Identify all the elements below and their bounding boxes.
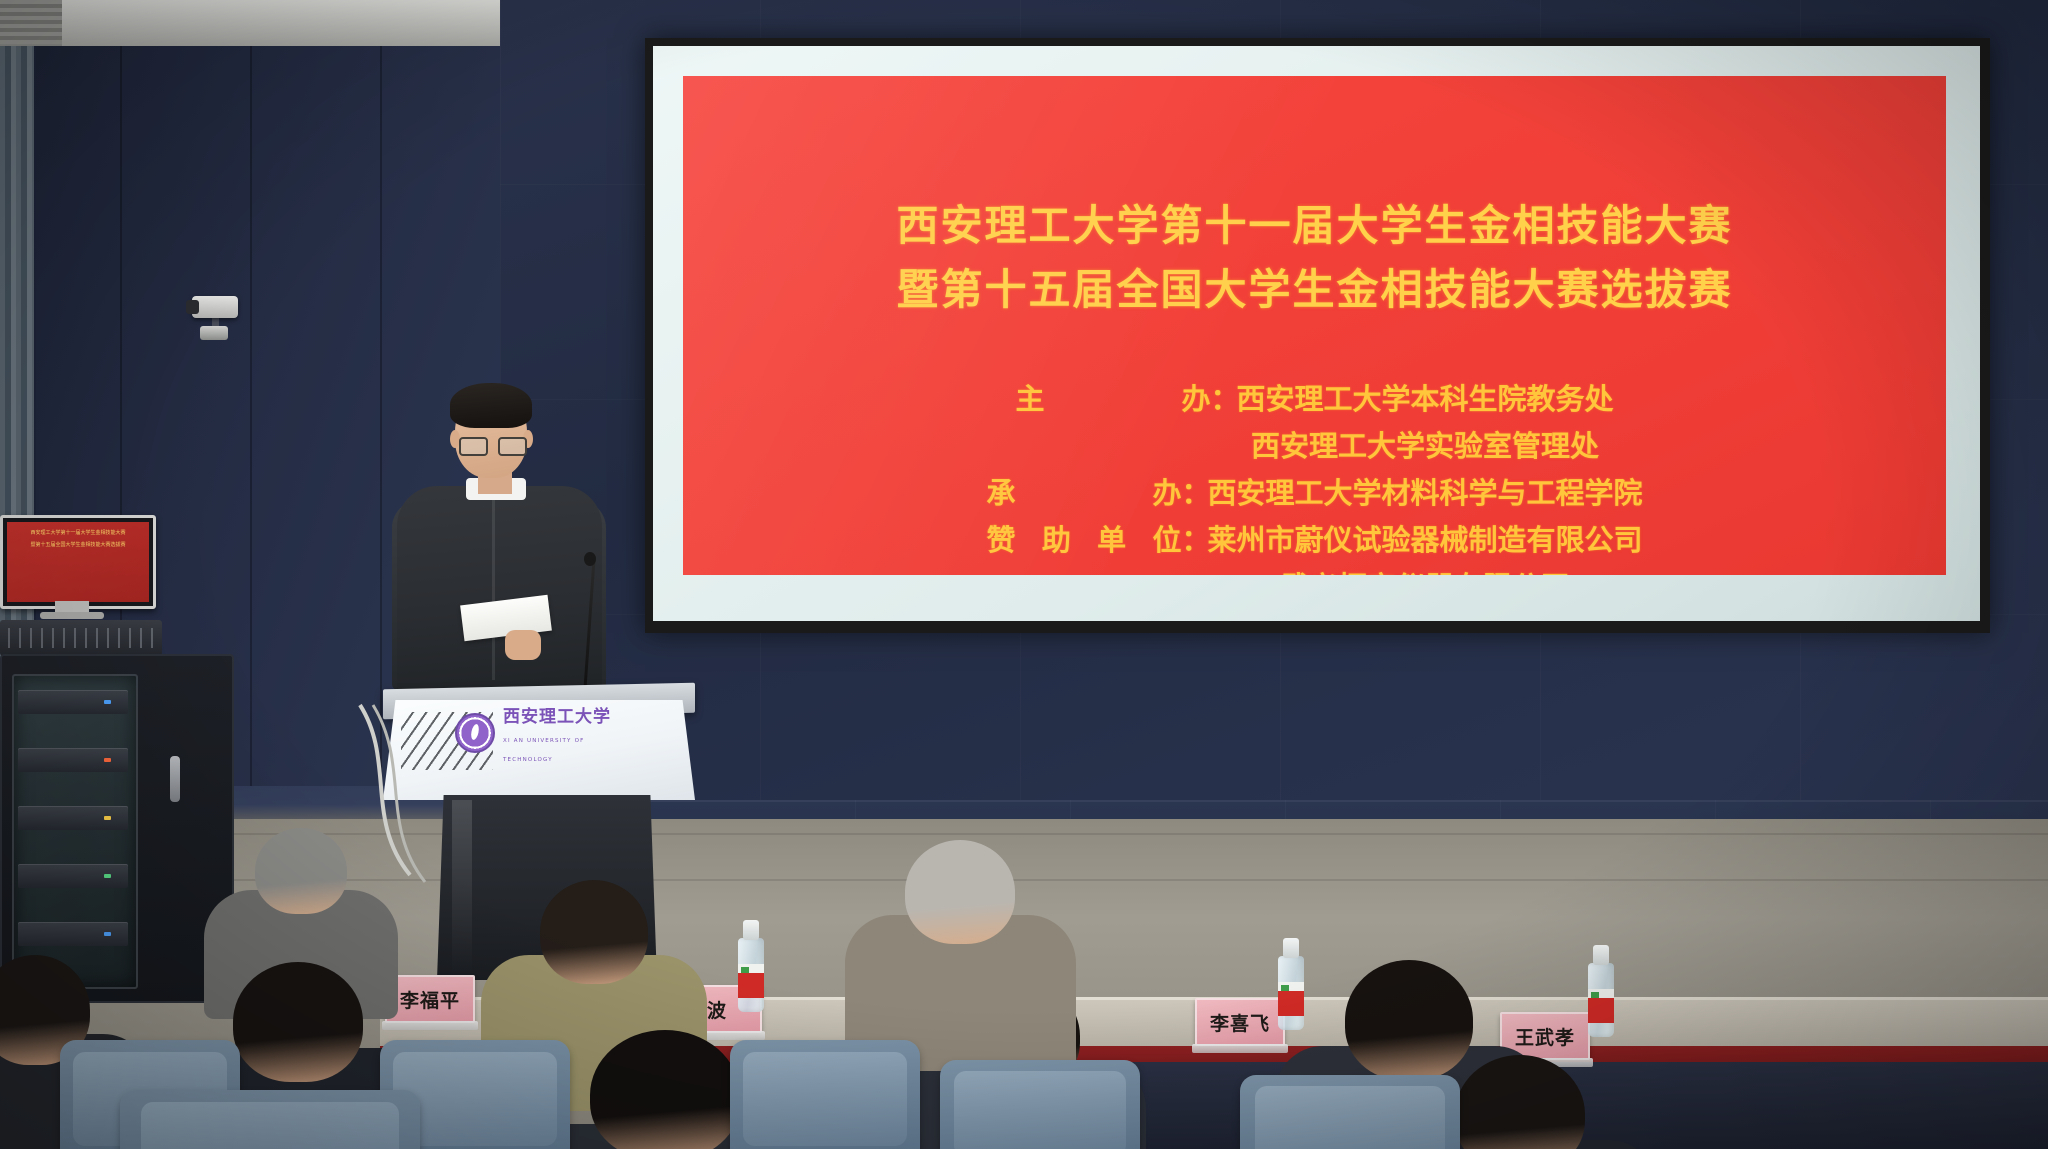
water-bottle bbox=[1278, 938, 1304, 1030]
microphone-icon bbox=[584, 552, 596, 566]
attendee-grey-suit-head bbox=[905, 840, 1015, 944]
speaker-torso bbox=[397, 486, 602, 706]
av-equipment-rack bbox=[0, 654, 234, 1003]
rack-unit[interactable] bbox=[18, 690, 128, 714]
slide-row-label: 赞助单位 bbox=[986, 517, 1181, 564]
slide-row-sponsor-2: 赞助单位 ： 武义恒宇仪器有限公司 bbox=[683, 564, 1946, 575]
attendee-center-left-head bbox=[540, 880, 648, 984]
slide-row-colon: ： bbox=[1210, 376, 1236, 423]
name-card: 李喜飞 bbox=[1195, 998, 1285, 1046]
slide-row-label: 主办 bbox=[1015, 376, 1210, 423]
bottle-cap bbox=[743, 920, 759, 940]
control-monitor: 西安理工大学第十一届大学生金相技能大赛 暨第十五届全国大学生金相技能大赛选拔赛 bbox=[0, 515, 156, 609]
slide-row-organizer-2: 主办 ： 西安理工大学实验室管理处 bbox=[683, 423, 1946, 470]
speaker-hair bbox=[450, 383, 532, 428]
slide-row-label: 承办 bbox=[986, 470, 1181, 517]
slide-row-host: 承办 ： 西安理工大学材料科学与工程学院 bbox=[683, 470, 1946, 517]
audience-chair bbox=[730, 1040, 920, 1149]
speaker-jacket-zip bbox=[492, 500, 495, 680]
monitor-foot bbox=[40, 612, 104, 619]
presentation-slide: 西安理工大学第十一届大学生金相技能大赛 暨第十五届全国大学生金相技能大赛选拔赛 … bbox=[683, 76, 1946, 575]
bottle-label bbox=[1588, 989, 1614, 1023]
eyeglasses-icon bbox=[459, 437, 523, 453]
slide-row-value: 西安理工大学本科生院教务处 bbox=[1236, 376, 1613, 423]
projection-screen: 西安理工大学第十一届大学生金相技能大赛 暨第十五届全国大学生金相技能大赛选拔赛 … bbox=[645, 38, 1990, 633]
slide-row-value: 西安理工大学实验室管理处 bbox=[1251, 423, 1599, 470]
slide-title-line-2: 暨第十五届全国大学生金相技能大赛选拔赛 bbox=[683, 258, 1946, 322]
camera-lens-icon bbox=[186, 300, 199, 314]
audience-chair bbox=[940, 1060, 1140, 1149]
attendee-right-head bbox=[1345, 960, 1473, 1080]
rack-unit[interactable] bbox=[18, 806, 128, 830]
rack-unit[interactable] bbox=[18, 864, 128, 888]
bottle-label bbox=[738, 964, 764, 998]
bottle-cap bbox=[1283, 938, 1299, 958]
attendee-front-left-head bbox=[233, 962, 363, 1082]
rack-unit[interactable] bbox=[18, 922, 128, 946]
monitor-screen: 西安理工大学第十一届大学生金相技能大赛 暨第十五届全国大学生金相技能大赛选拔赛 bbox=[7, 522, 149, 602]
attendee-back-left-head bbox=[255, 828, 347, 914]
audio-mixer[interactable] bbox=[0, 620, 162, 656]
speaker-hand bbox=[505, 630, 541, 660]
slide-row-organizer: 主办 ： 西安理工大学本科生院教务处 bbox=[683, 376, 1946, 423]
screenshot-root: 西安理工大学第十一届大学生金相技能大赛 暨第十五届全国大学生金相技能大赛选拔赛 … bbox=[0, 0, 2048, 1149]
water-bottle bbox=[738, 920, 764, 1012]
ceiling-vent bbox=[0, 0, 64, 44]
slide-row-colon: ： bbox=[1181, 517, 1207, 564]
slide-title-line-1: 西安理工大学第十一届大学生金相技能大赛 bbox=[683, 194, 1946, 258]
slide-title: 西安理工大学第十一届大学生金相技能大赛 暨第十五届全国大学生金相技能大赛选拔赛 bbox=[683, 194, 1946, 322]
bottle-cap bbox=[1593, 945, 1609, 965]
rack-unit[interactable] bbox=[18, 748, 128, 772]
screen-surface: 西安理工大学第十一届大学生金相技能大赛 暨第十五届全国大学生金相技能大赛选拔赛 … bbox=[653, 46, 1980, 621]
ceiling-panel bbox=[62, 0, 313, 46]
audience-chair bbox=[120, 1090, 420, 1149]
rack-handle[interactable] bbox=[170, 756, 180, 802]
camera-base bbox=[200, 326, 228, 340]
water-bottle bbox=[1588, 945, 1614, 1037]
slide-body: 主办 ： 西安理工大学本科生院教务处 主办 ： 西安理工大学实验室管理处 承办 … bbox=[683, 376, 1946, 575]
slide-row-sponsor: 赞助单位 ： 莱州市蔚仪试验器械制造有限公司 bbox=[683, 517, 1946, 564]
slide-row-value: 武义恒宇仪器有限公司 bbox=[1280, 564, 1570, 575]
monitor-preview-line-2: 暨第十五届全国大学生金相技能大赛选拔赛 bbox=[11, 542, 145, 549]
power-cable bbox=[355, 700, 555, 890]
slide-row-colon: ： bbox=[1181, 470, 1207, 517]
audience-chair bbox=[1240, 1075, 1460, 1149]
slide-row-value: 莱州市蔚仪试验器械制造有限公司 bbox=[1207, 517, 1642, 564]
bottle-label bbox=[1278, 982, 1304, 1016]
attendee-center-front-head bbox=[590, 1030, 740, 1149]
monitor-preview-line-1: 西安理工大学第十一届大学生金相技能大赛 bbox=[11, 530, 145, 537]
slide-row-value: 西安理工大学材料科学与工程学院 bbox=[1207, 470, 1642, 517]
name-card: 李福平 bbox=[385, 975, 475, 1023]
